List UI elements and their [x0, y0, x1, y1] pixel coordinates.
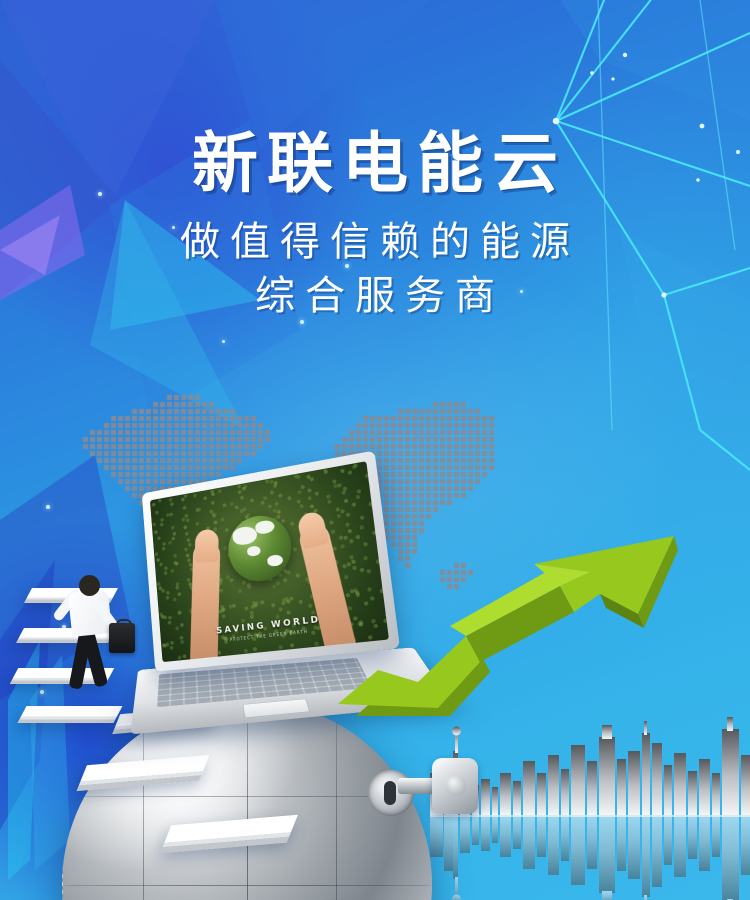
- chrome-key-head: [432, 758, 478, 814]
- green-growth-arrow: [338, 520, 678, 720]
- figure-head: [79, 575, 100, 596]
- headline-block: 新联电能云 做值得信赖的能源 综合服务商: [0, 130, 750, 323]
- page-title: 新联电能云: [0, 130, 750, 197]
- globe-parallel: [62, 885, 432, 886]
- promo-poster: SAVING WORLD PROTECT THE GREEN EARTH 新联电: [0, 0, 750, 900]
- laptop-trackpad: [242, 698, 310, 718]
- globe-shadow: [232, 896, 432, 900]
- subtitle-line-2: 综合服务商: [0, 269, 750, 323]
- city-skyline-graphic: [430, 715, 750, 900]
- subtitle-line-1: 做值得信赖的能源: [0, 215, 750, 269]
